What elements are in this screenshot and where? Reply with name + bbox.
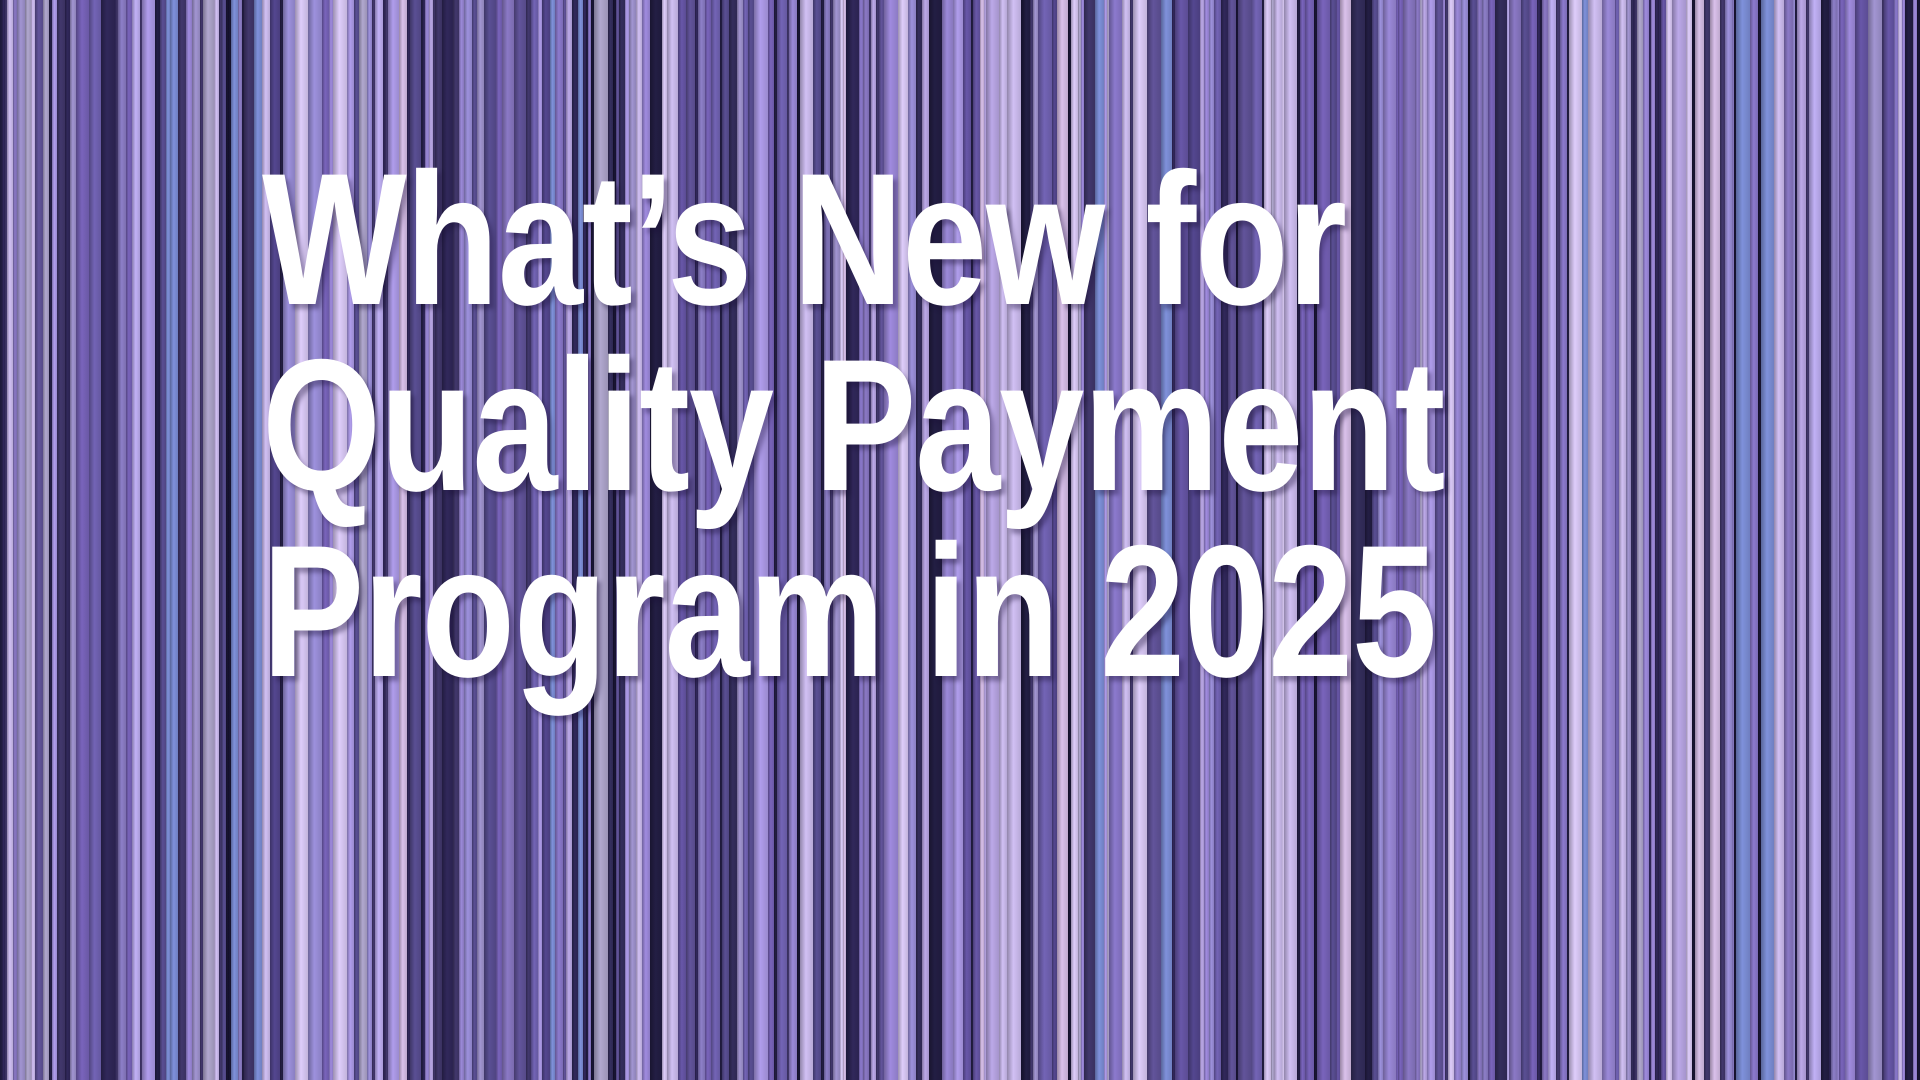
background-stripe	[973, 0, 980, 1080]
background-stripe	[1214, 0, 1221, 1080]
background-stripe	[442, 0, 453, 1080]
background-stripe	[678, 0, 686, 1080]
background-stripe	[192, 0, 200, 1080]
background-stripe	[435, 0, 442, 1080]
background-stripe	[1175, 0, 1188, 1080]
background-stripe	[1274, 0, 1282, 1080]
background-stripe	[1868, 0, 1882, 1080]
background-stripe	[308, 0, 322, 1080]
background-stripe	[178, 0, 186, 1080]
background-stripe	[1884, 0, 1894, 1080]
background-stripe	[686, 0, 695, 1080]
background-stripe	[963, 0, 971, 1080]
background-stripe	[1529, 0, 1537, 1080]
background-stripe	[57, 0, 65, 1080]
background-stripe	[953, 0, 963, 1080]
background-stripe	[1305, 0, 1314, 1080]
background-stripe	[594, 0, 608, 1080]
background-stripe	[629, 0, 636, 1080]
background-stripe	[1095, 0, 1104, 1080]
background-stripe	[514, 0, 526, 1080]
background-stripe	[203, 0, 214, 1080]
background-stripe	[17, 0, 25, 1080]
background-stripe	[35, 0, 43, 1080]
background-stripe	[1588, 0, 1602, 1080]
background-stripe	[942, 0, 953, 1080]
background-stripe	[884, 0, 898, 1080]
background-stripe	[929, 0, 942, 1080]
background-stripe	[986, 0, 999, 1080]
background-stripe	[270, 0, 280, 1080]
background-stripe	[1023, 0, 1030, 1080]
background-stripe	[1619, 0, 1626, 1080]
background-stripe	[1365, 0, 1372, 1080]
background-stripe	[1797, 0, 1806, 1080]
background-stripe	[322, 0, 329, 1080]
background-stripe	[231, 0, 238, 1080]
background-stripe	[1710, 0, 1720, 1080]
background-stripe	[650, 0, 662, 1080]
background-stripe	[399, 0, 407, 1080]
background-stripe	[132, 0, 140, 1080]
background-stripe	[254, 0, 262, 1080]
background-stripe	[1133, 0, 1147, 1080]
background-stripe	[1521, 0, 1529, 1080]
background-stripe	[1403, 0, 1415, 1080]
background-stripe	[711, 0, 720, 1080]
background-stripe	[464, 0, 472, 1080]
background-stripe	[1161, 0, 1172, 1080]
background-stripe	[1548, 0, 1556, 1080]
background-stripe	[1602, 0, 1615, 1080]
background-stripe	[1905, 0, 1913, 1080]
background-stripe	[388, 0, 399, 1080]
background-stripe	[1569, 0, 1582, 1080]
background-stripe	[531, 0, 538, 1080]
background-stripe	[1736, 0, 1750, 1080]
background-stripe	[1109, 0, 1122, 1080]
background-stripe	[898, 0, 908, 1080]
background-stripe	[347, 0, 354, 1080]
background-stripe	[1495, 0, 1507, 1080]
background-stripe	[1264, 0, 1271, 1080]
background-stripe	[777, 0, 787, 1080]
background-stripe	[262, 0, 270, 1080]
background-stripe	[375, 0, 383, 1080]
background-stripe	[555, 0, 563, 1080]
background-stripe	[999, 0, 1007, 1080]
background-stripe	[754, 0, 768, 1080]
striped-background	[0, 0, 1920, 1080]
background-stripe	[698, 0, 705, 1080]
background-stripe	[1251, 0, 1262, 1080]
background-stripe	[1821, 0, 1829, 1080]
background-stripe	[1038, 0, 1052, 1080]
background-stripe	[1122, 0, 1130, 1080]
background-stripe	[848, 0, 859, 1080]
background-stripe	[1509, 0, 1521, 1080]
background-stripe	[1351, 0, 1365, 1080]
background-stripe	[359, 0, 367, 1080]
background-stripe	[1057, 0, 1068, 1080]
background-stripe	[1560, 0, 1567, 1080]
background-stripe	[1845, 0, 1855, 1080]
background-stripe	[922, 0, 929, 1080]
background-stripe	[1488, 0, 1495, 1080]
background-stripe	[484, 0, 496, 1080]
background-stripe	[1855, 0, 1868, 1080]
background-stripe	[118, 0, 126, 1080]
background-stripe	[295, 0, 308, 1080]
background-stripe	[1470, 0, 1477, 1080]
background-stripe	[542, 0, 550, 1080]
background-stripe	[722, 0, 729, 1080]
background-stripe	[1435, 0, 1443, 1080]
background-stripe	[729, 0, 737, 1080]
background-stripe	[667, 0, 678, 1080]
background-stripe	[1221, 0, 1228, 1080]
background-stripe	[89, 0, 101, 1080]
background-stripe	[833, 0, 840, 1080]
background-stripe	[800, 0, 813, 1080]
background-stripe	[1761, 0, 1774, 1080]
background-stripe	[1340, 0, 1351, 1080]
background-stripe	[789, 0, 797, 1080]
background-stripe	[1784, 0, 1793, 1080]
background-stripe	[410, 0, 421, 1080]
background-stripe	[76, 0, 89, 1080]
background-stripe	[1284, 0, 1297, 1080]
background-stripe	[333, 0, 347, 1080]
background-stripe	[642, 0, 650, 1080]
background-stripe	[1147, 0, 1161, 1080]
background-stripe	[1774, 0, 1784, 1080]
background-stripe	[1238, 0, 1251, 1080]
background-stripe	[1427, 0, 1435, 1080]
background-stripe	[1383, 0, 1396, 1080]
background-stripe	[1750, 0, 1758, 1080]
title-banner: What’s New for Quality Payment Program i…	[0, 0, 1920, 1080]
background-stripe	[1454, 0, 1461, 1080]
background-stripe	[283, 0, 295, 1080]
background-stripe	[1007, 0, 1021, 1080]
background-stripe	[1725, 0, 1732, 1080]
background-stripe	[1228, 0, 1236, 1080]
background-stripe	[908, 0, 916, 1080]
background-stripe	[813, 0, 821, 1080]
background-stripe	[477, 0, 484, 1080]
background-stripe	[170, 0, 178, 1080]
background-stripe	[1809, 0, 1821, 1080]
background-stripe	[1695, 0, 1704, 1080]
background-stripe	[101, 0, 114, 1080]
background-stripe	[142, 0, 155, 1080]
background-stripe	[1317, 0, 1330, 1080]
background-stripe	[1672, 0, 1686, 1080]
background-stripe	[1084, 0, 1095, 1080]
background-stripe	[1461, 0, 1468, 1080]
background-stripe	[1071, 0, 1078, 1080]
background-stripe	[502, 0, 514, 1080]
background-stripe	[1188, 0, 1200, 1080]
background-stripe	[244, 0, 254, 1080]
